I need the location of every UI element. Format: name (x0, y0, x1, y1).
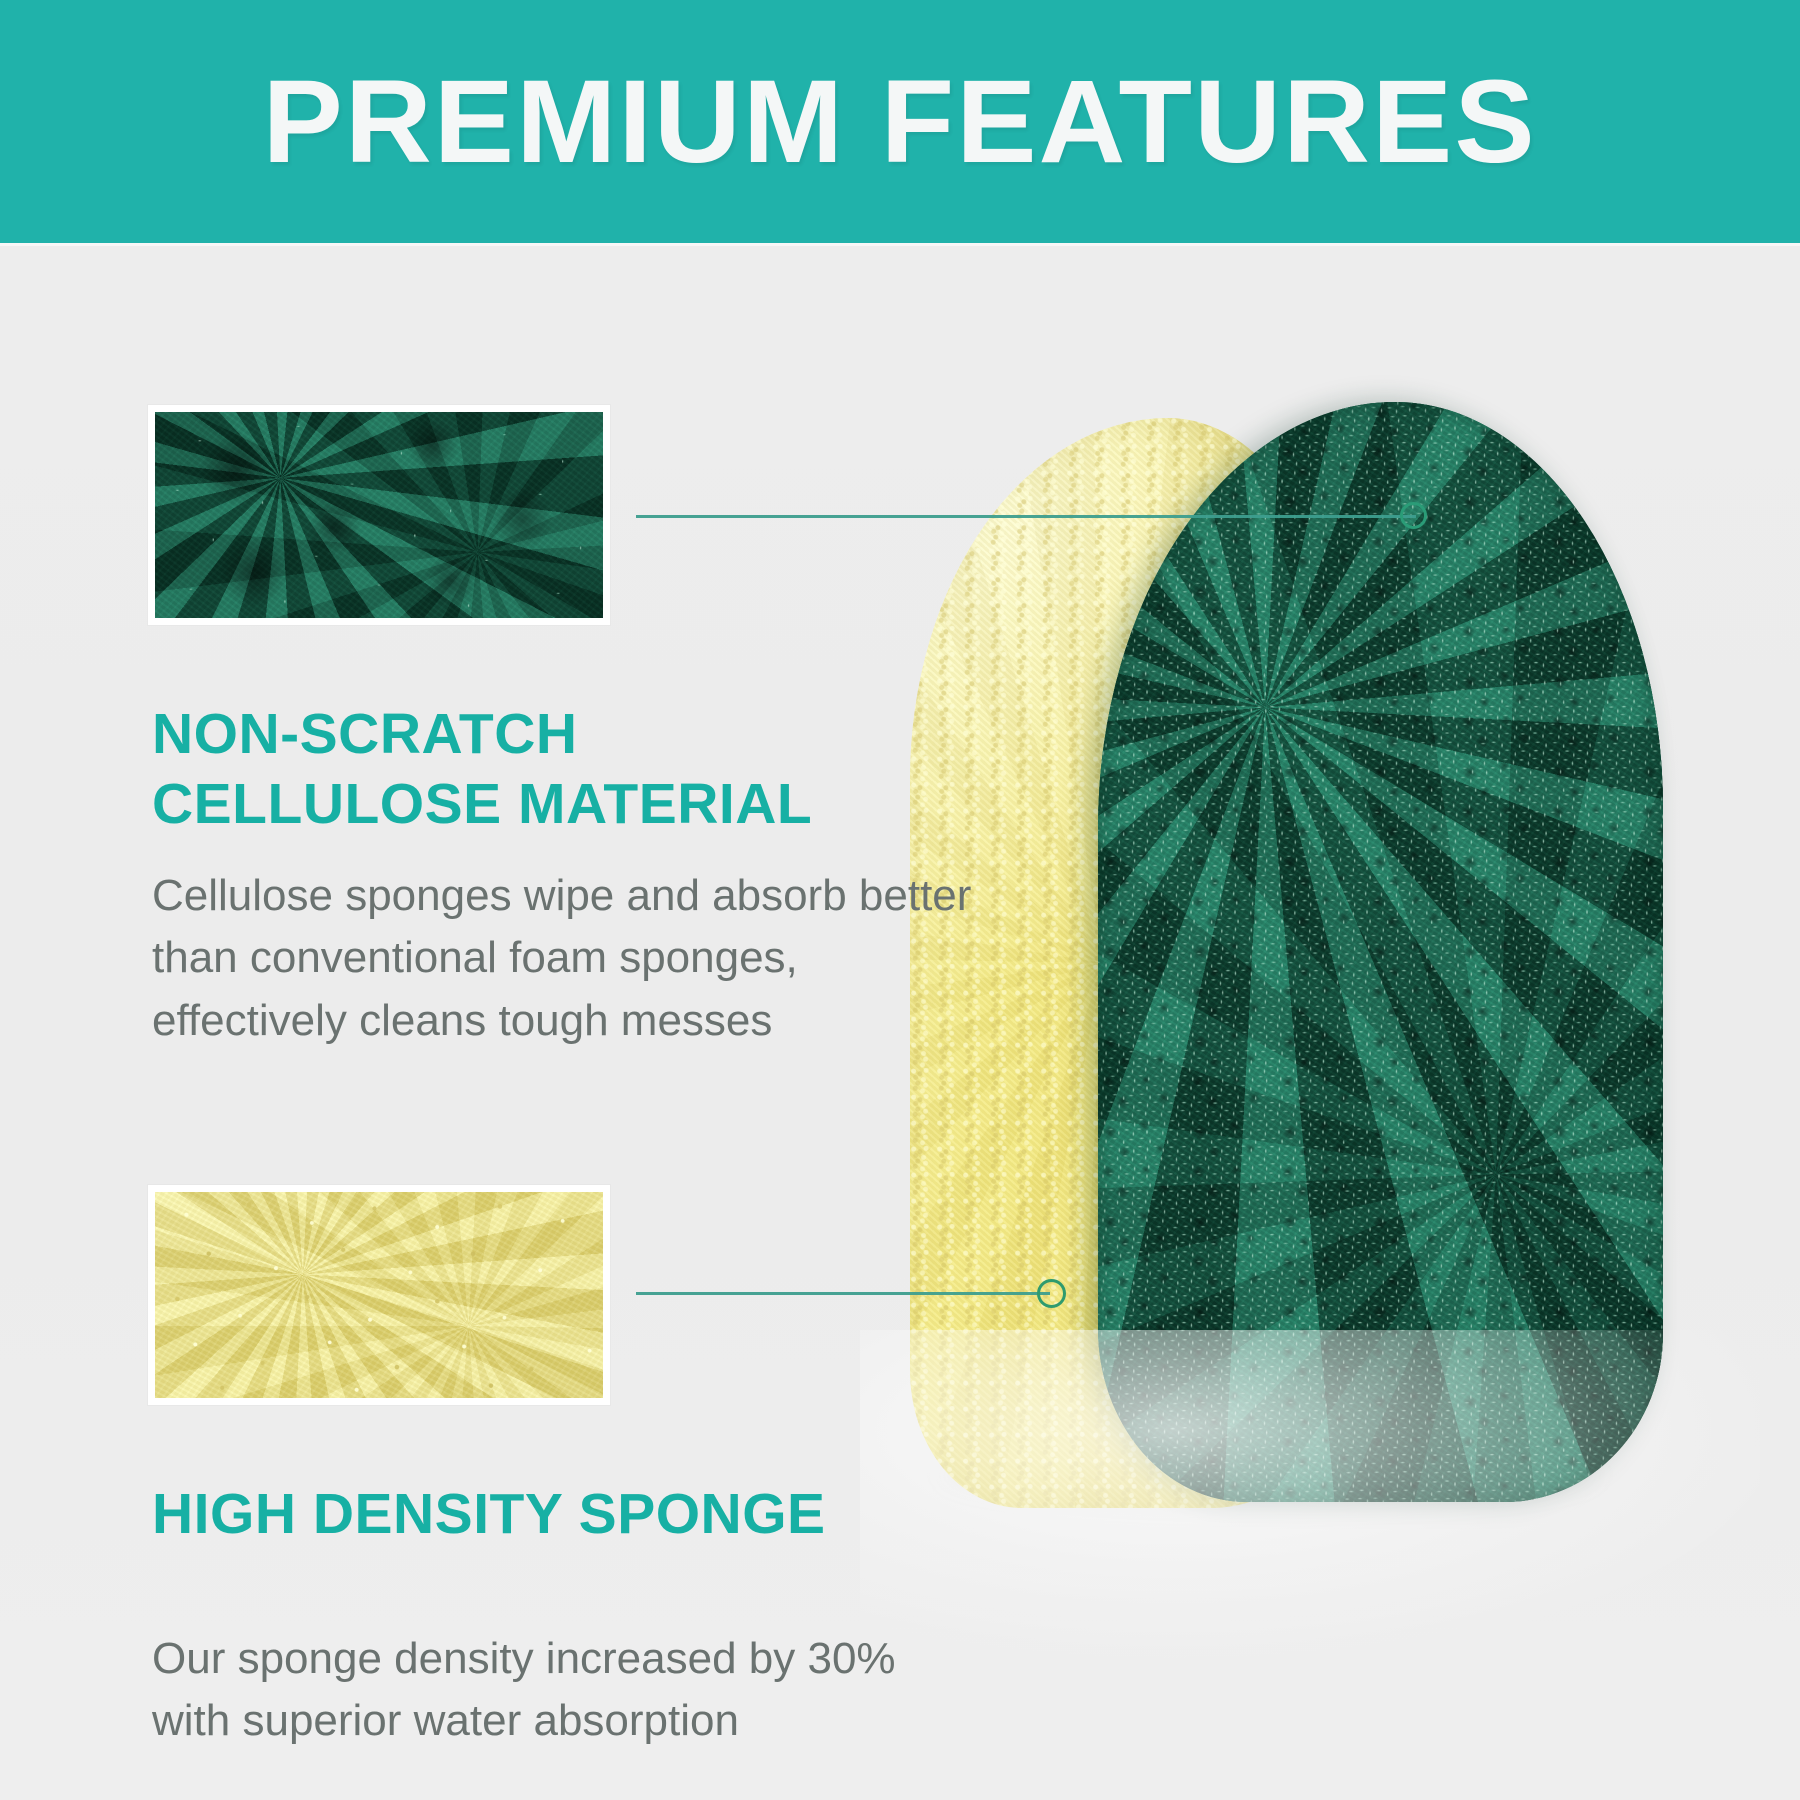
feature-description-1: Cellulose sponges wipe and absorb better… (152, 865, 982, 1052)
green-scrubber-texture (155, 412, 603, 618)
header-divider (0, 243, 1800, 246)
feature-description-2: Our sponge density increased by 30% with… (152, 1628, 982, 1753)
swatch-green-scrubber (148, 405, 610, 625)
sponge-green-scrub-pad (1098, 402, 1663, 1502)
feature-title-1: NON-SCRATCH CELLULOSE MATERIAL (152, 700, 942, 839)
page-title: PREMIUM FEATURES (263, 63, 1537, 181)
feature-title-2: HIGH DENSITY SPONGE (152, 1480, 942, 1550)
callout-endpoint-dot-2 (1037, 1279, 1066, 1308)
swatch-yellow-sponge (148, 1185, 610, 1405)
callout-line-2 (636, 1292, 1050, 1295)
yellow-sponge-texture (155, 1192, 603, 1398)
scrub-pad-edge-shading (1098, 402, 1663, 1502)
product-image-sponge (880, 380, 1680, 1540)
header-banner: PREMIUM FEATURES (0, 0, 1800, 243)
callout-endpoint-dot-1 (1400, 502, 1427, 529)
premium-features-infographic: PREMIUM FEATURES NON-SCRATCH CELLULOSE M… (0, 0, 1800, 1800)
callout-line-1 (636, 515, 1416, 518)
